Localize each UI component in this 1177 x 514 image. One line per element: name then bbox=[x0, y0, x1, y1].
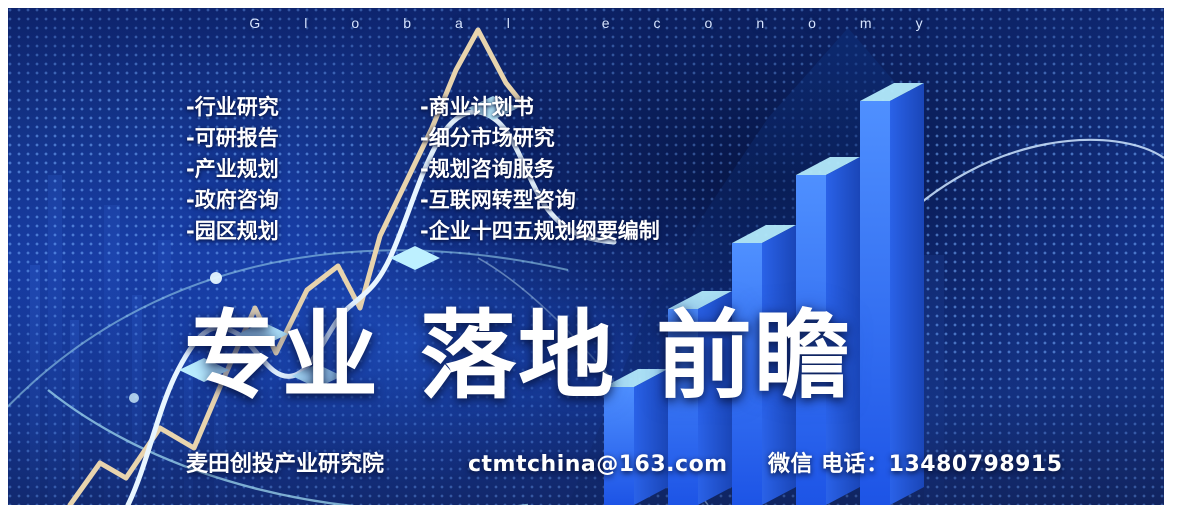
services-right-column: -商业计划书 -细分市场研究 -规划咨询服务 -互联网转型咨询 -企业十四五规划… bbox=[420, 92, 660, 247]
headline-word-1: 专业 bbox=[184, 304, 380, 408]
service-item: -园区规划 bbox=[186, 216, 279, 247]
headline-word-2: 落地 bbox=[420, 304, 616, 408]
promo-banner: Global economy -行业研究 -可研报告 -产业规划 -政府咨询 -… bbox=[8, 8, 1164, 505]
footer-contact-strip: 麦田创投产业研究院ctmtchina@163.com微信 电话：13480798… bbox=[186, 448, 1066, 482]
contact-phone: 微信 电话：13480798915 bbox=[768, 448, 1063, 482]
service-item: -可研报告 bbox=[186, 123, 279, 154]
economy-chart-graphic bbox=[8, 8, 1164, 505]
service-item: -政府咨询 bbox=[186, 185, 279, 216]
service-item: -细分市场研究 bbox=[420, 123, 660, 154]
bar-5 bbox=[860, 83, 924, 505]
service-item: -企业十四五规划纲要编制 bbox=[420, 216, 660, 247]
service-item: -互联网转型咨询 bbox=[420, 185, 660, 216]
service-item: -产业规划 bbox=[186, 154, 279, 185]
curve-node-dot bbox=[210, 272, 222, 284]
top-label: Global economy bbox=[8, 8, 1164, 38]
email-address: ctmtchina@163.com bbox=[468, 448, 768, 482]
headline: 专业落地前瞻 bbox=[184, 304, 852, 408]
services-left-column: -行业研究 -可研报告 -产业规划 -政府咨询 -园区规划 bbox=[186, 92, 279, 247]
service-item: -行业研究 bbox=[186, 92, 279, 123]
service-item: -规划咨询服务 bbox=[420, 154, 660, 185]
headline-word-3: 前瞻 bbox=[656, 304, 852, 408]
curve-node-dot bbox=[129, 393, 139, 403]
service-item: -商业计划书 bbox=[420, 92, 660, 123]
arc-upper-right bbox=[888, 140, 1164, 233]
organization-name: 麦田创投产业研究院 bbox=[186, 448, 468, 482]
